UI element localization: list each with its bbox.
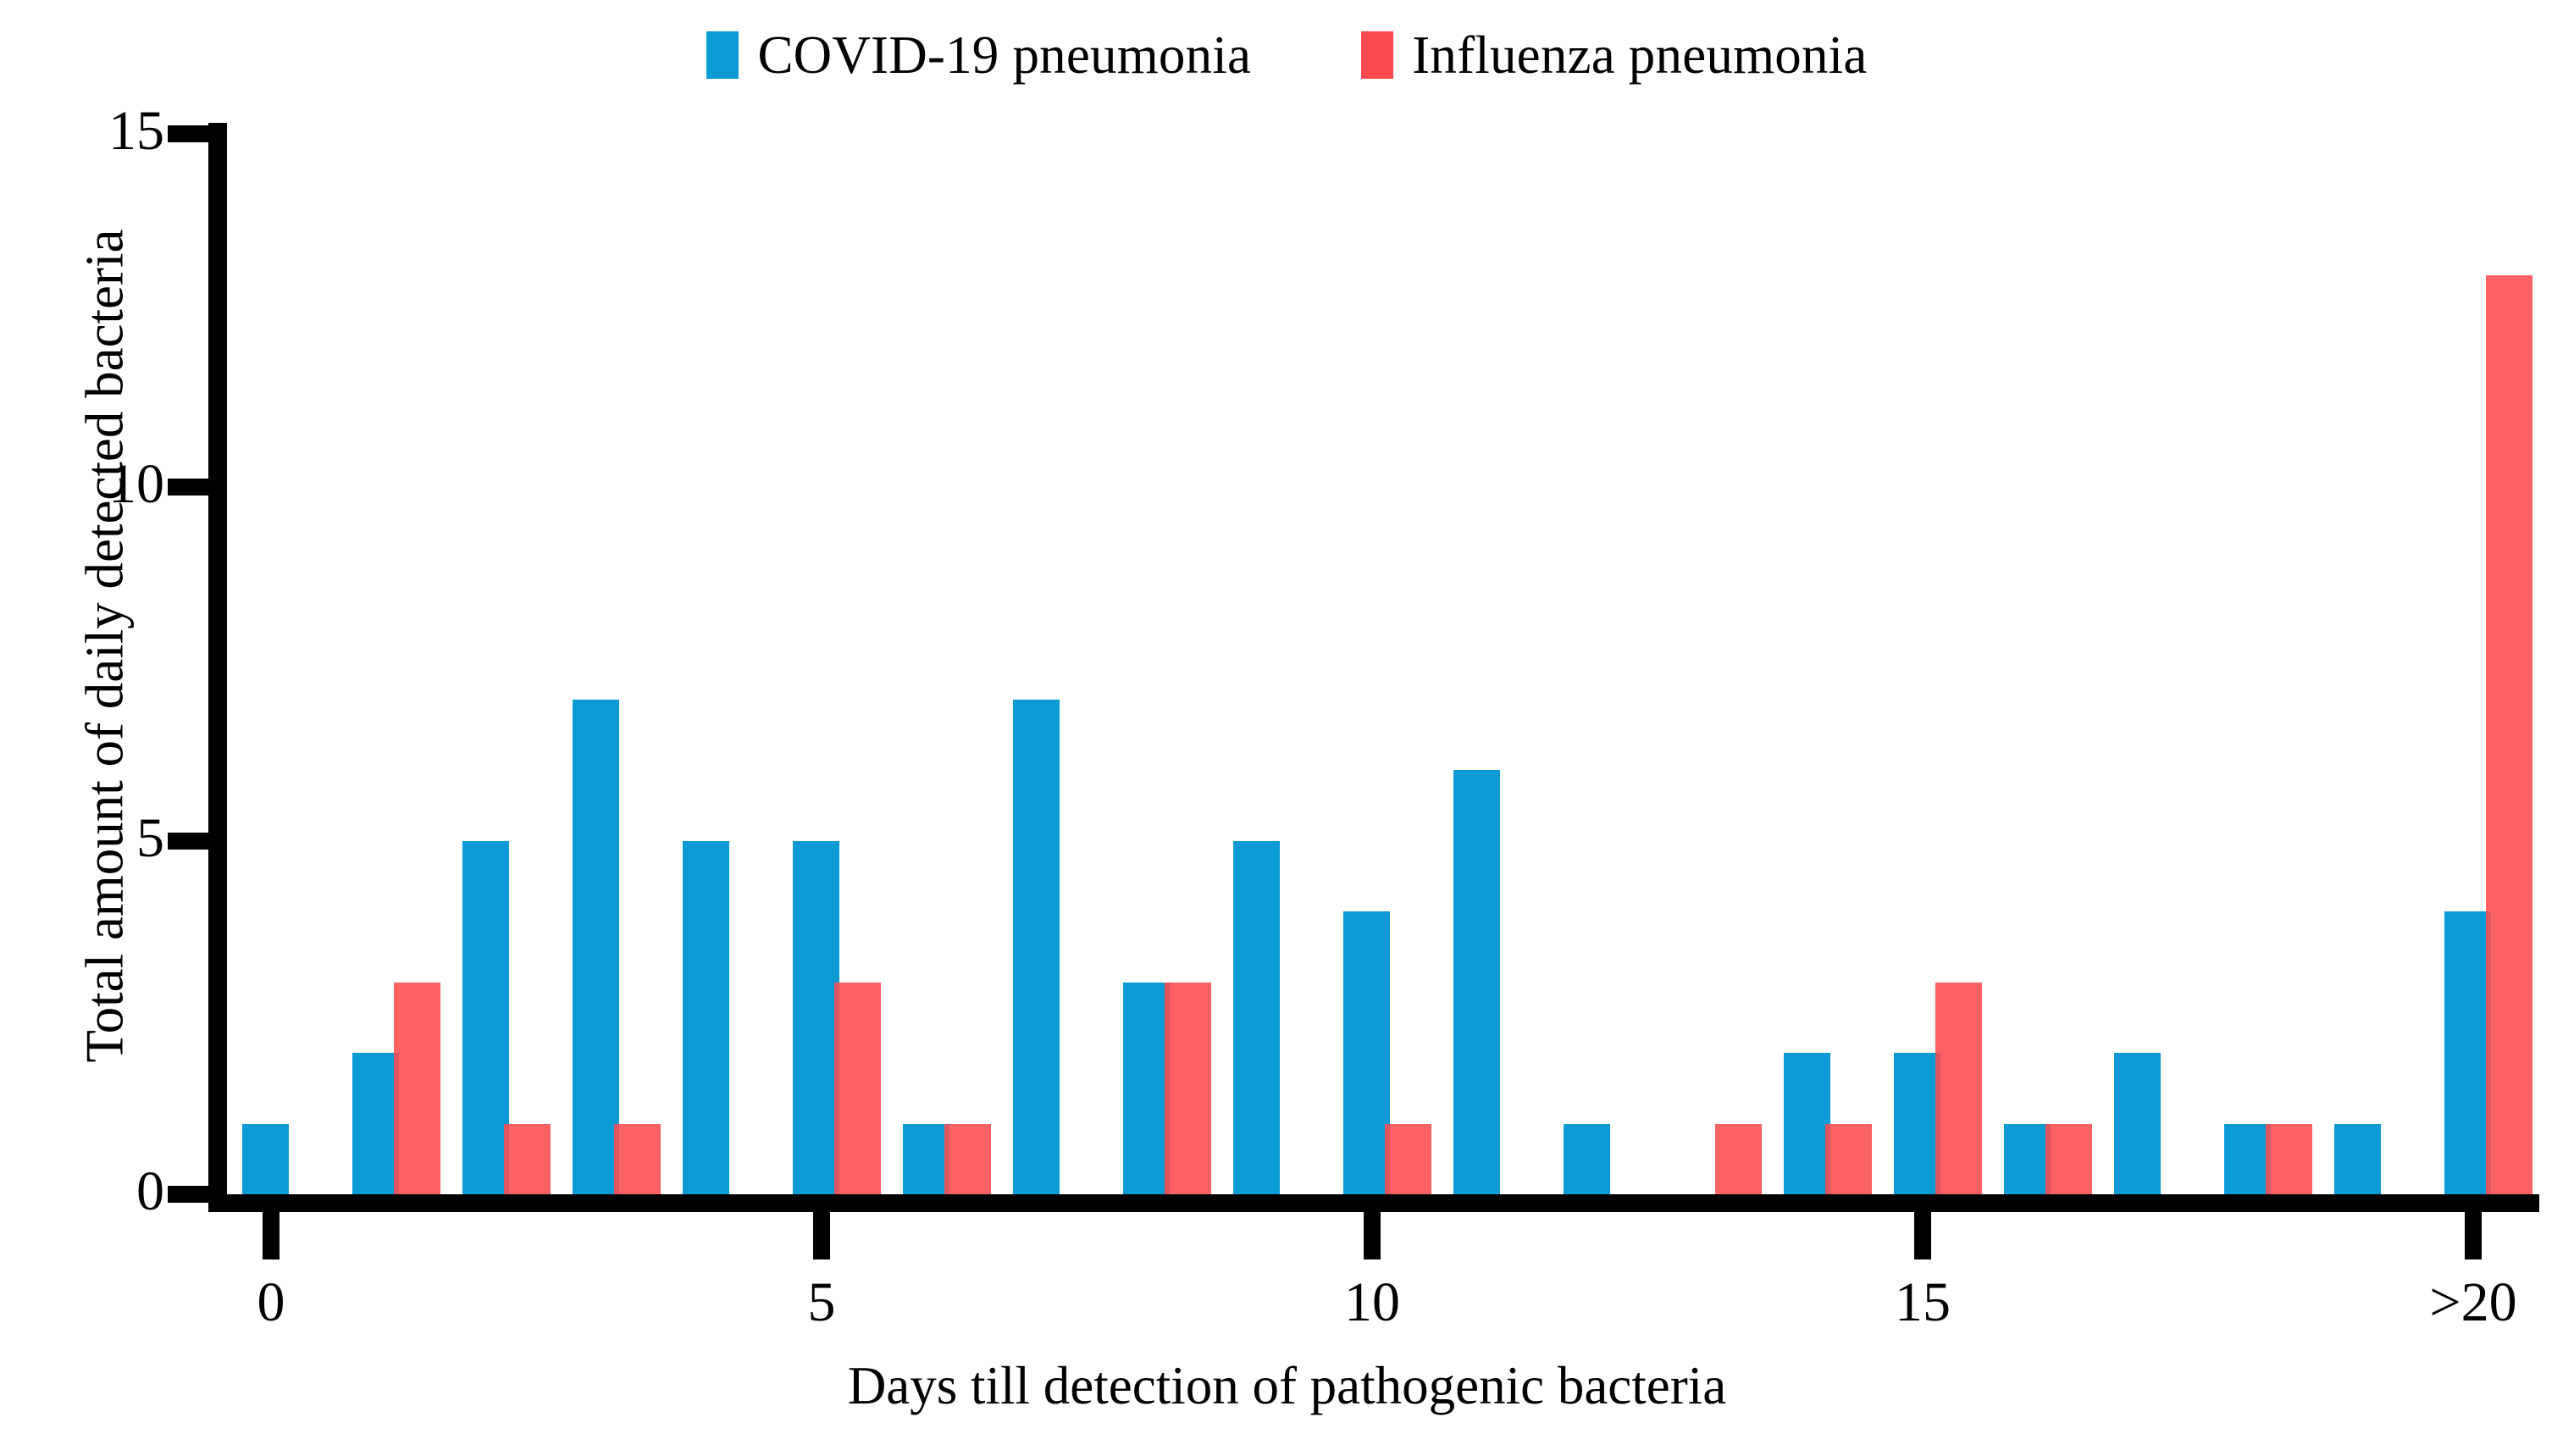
bar-influenza-2 <box>504 1124 551 1194</box>
chart-legend: COVID-19 pneumonia Influenza pneumonia <box>0 22 2574 88</box>
legend-swatch-covid-icon <box>706 31 739 79</box>
bar-covid->20 <box>2444 911 2491 1194</box>
bar-covid-12 <box>1564 1124 1610 1194</box>
bar-covid-4 <box>683 841 729 1194</box>
x-axis-title: Days till detection of pathogenic bacter… <box>0 1359 2574 1413</box>
y-axis-title: Total amount of daily detected bacteria <box>79 87 132 1205</box>
bar-covid-9 <box>1233 841 1280 1194</box>
bar-covid-10 <box>1343 911 1390 1194</box>
x-tick-mark-15 <box>1914 1212 1931 1259</box>
plot-area <box>227 134 2539 1194</box>
bar-covid-18 <box>2224 1124 2271 1194</box>
bar-influenza-15 <box>1935 983 1982 1194</box>
bar-influenza->20 <box>2486 275 2532 1194</box>
bar-influenza-6 <box>944 1124 991 1194</box>
legend-entry-influenza: Influenza pneumonia <box>1361 29 1867 82</box>
x-tick-label-10: 10 <box>1270 1275 1474 1331</box>
bar-covid-11 <box>1453 770 1500 1194</box>
bar-influenza-3 <box>614 1124 661 1194</box>
bar-influenza-13 <box>1715 1124 1762 1194</box>
x-tick-mark-10 <box>1364 1212 1381 1259</box>
x-axis-spine <box>208 1194 2539 1212</box>
x-tick-label-0: 0 <box>169 1275 373 1331</box>
legend-entry-covid: COVID-19 pneumonia <box>706 29 1251 82</box>
bar-covid-16 <box>2004 1124 2051 1194</box>
bar-chart-figure: COVID-19 pneumonia Influenza pneumonia 0… <box>0 0 2574 1456</box>
bar-influenza-16 <box>2045 1124 2092 1194</box>
y-axis-spine <box>208 123 227 1209</box>
x-tick-label->20: >20 <box>2372 1275 2574 1331</box>
bar-influenza-14 <box>1825 1124 1872 1194</box>
bar-covid-19 <box>2334 1124 2381 1194</box>
bar-covid-14 <box>1784 1053 1830 1194</box>
x-tick-label-15: 15 <box>1821 1275 2024 1331</box>
bar-covid-7 <box>1013 700 1060 1194</box>
bar-influenza-5 <box>834 983 881 1194</box>
bar-covid-5 <box>793 841 839 1194</box>
x-tick-mark->20 <box>2465 1212 2482 1259</box>
y-tick-mark-5 <box>168 833 208 850</box>
bar-covid-15 <box>1894 1053 1940 1194</box>
y-tick-mark-0 <box>168 1186 208 1203</box>
bar-covid-6 <box>903 1124 949 1194</box>
bar-covid-2 <box>462 841 509 1194</box>
bar-covid-1 <box>352 1053 399 1194</box>
x-tick-mark-0 <box>263 1212 280 1259</box>
legend-swatch-influenza-icon <box>1361 31 1393 79</box>
bar-influenza-8 <box>1165 983 1211 1194</box>
legend-label-influenza: Influenza pneumonia <box>1412 29 1867 82</box>
bar-covid-0 <box>242 1124 289 1194</box>
bar-covid-17 <box>2114 1053 2161 1194</box>
y-tick-mark-10 <box>168 479 208 495</box>
x-tick-mark-5 <box>813 1212 830 1259</box>
bar-influenza-1 <box>394 983 440 1194</box>
bar-influenza-18 <box>2266 1124 2312 1194</box>
y-tick-mark-15 <box>168 125 208 142</box>
bar-influenza-10 <box>1385 1124 1431 1194</box>
bar-covid-3 <box>573 700 619 1194</box>
x-tick-label-5: 5 <box>720 1275 923 1331</box>
legend-label-covid: COVID-19 pneumonia <box>757 29 1251 82</box>
bar-covid-8 <box>1123 983 1170 1194</box>
